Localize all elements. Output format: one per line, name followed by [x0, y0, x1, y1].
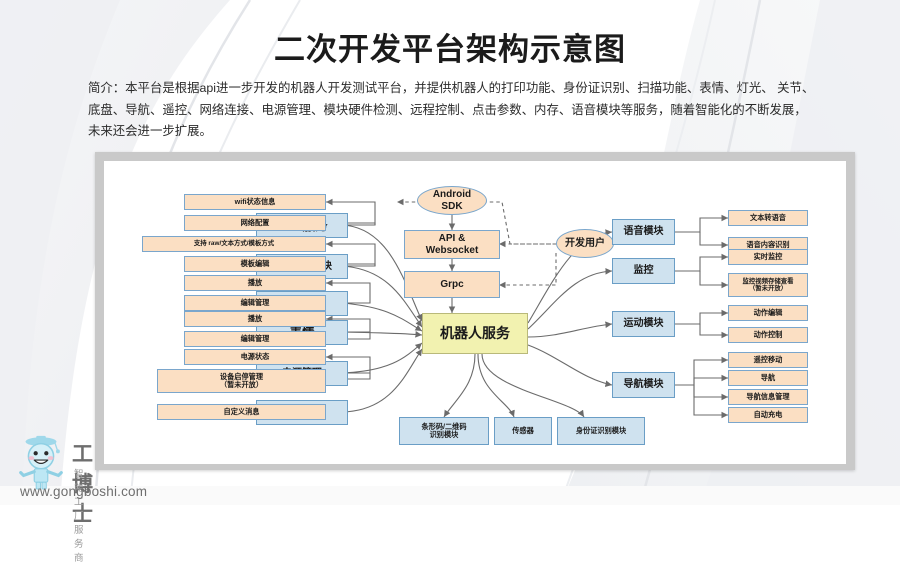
- node-grpc[interactable]: Grpc: [404, 271, 500, 298]
- node-device-startstop-manage[interactable]: 设备启停管理 （暂未开放）: [157, 369, 326, 393]
- logo-tagline: 智能工厂服务商: [74, 466, 85, 564]
- node-label: 监控视频存储查看 （暂未开放）: [742, 278, 793, 292]
- node-text-to-speech[interactable]: 文本转语音: [728, 210, 808, 226]
- node-label: 实时监控: [754, 253, 783, 261]
- diagram-canvas: 机器人服务 Android SDK API & Websocket Grpc 开…: [104, 161, 846, 464]
- node-power-status[interactable]: 电源状态: [184, 349, 326, 365]
- node-label: 开发用户: [565, 238, 605, 249]
- node-label: 设备启停管理 （暂未开放）: [220, 373, 263, 389]
- intro-paragraph: 简介：本平台是根据api进一步开发的机器人开发测试平台，并提供机器人的打印功能、…: [88, 78, 818, 143]
- node-wifi-status-info[interactable]: wifi状态信息: [184, 194, 326, 210]
- node-action-control[interactable]: 动作控制: [728, 327, 808, 343]
- robot-mascot-icon: [12, 432, 70, 490]
- node-label: 电源状态: [241, 353, 270, 361]
- node-label: 支持 raw/文本方式/模板方式: [194, 240, 274, 247]
- node-label: 网络配置: [241, 219, 270, 227]
- node-navigation-info-manage[interactable]: 导航信息管理: [728, 389, 808, 405]
- node-network-config[interactable]: 网络配置: [184, 215, 326, 231]
- node-core-robot-service[interactable]: 机器人服务: [422, 313, 528, 354]
- node-id-card-module[interactable]: 身份证识别模块: [557, 417, 645, 445]
- node-label: 语音模块: [624, 226, 664, 237]
- node-voice-module[interactable]: 语音模块: [612, 219, 675, 245]
- node-label: 监控: [634, 265, 654, 276]
- diagram-frame: 机器人服务 Android SDK API & Websocket Grpc 开…: [95, 152, 855, 470]
- node-auto-charge[interactable]: 自动充电: [728, 407, 808, 423]
- node-label: 导航信息管理: [746, 393, 789, 401]
- node-label: API & Websocket: [426, 233, 479, 255]
- node-realtime-monitoring[interactable]: 实时监控: [728, 249, 808, 265]
- node-api-websocket[interactable]: API & Websocket: [404, 230, 500, 259]
- node-emotion-play[interactable]: 播放: [184, 311, 326, 327]
- node-label: Grpc: [440, 279, 463, 290]
- node-label: 编辑管理: [241, 335, 270, 343]
- node-barcode-qrcode-module[interactable]: 条形码/二维码 识别模块: [399, 417, 489, 445]
- node-label: 传感器: [512, 427, 534, 435]
- node-label: 自动充电: [754, 411, 783, 419]
- node-light-edit-manage[interactable]: 编辑管理: [184, 295, 326, 311]
- node-label: 编辑管理: [241, 299, 270, 307]
- node-label: 遥控移动: [754, 356, 783, 364]
- node-label: 条形码/二维码 识别模块: [421, 423, 466, 439]
- node-remote-move[interactable]: 遥控移动: [728, 352, 808, 368]
- node-label: 文本转语音: [750, 214, 786, 222]
- node-label: 动作编辑: [754, 309, 783, 317]
- node-android-sdk[interactable]: Android SDK: [417, 186, 487, 215]
- node-custom-message[interactable]: 自定义消息: [157, 404, 326, 420]
- node-label: 运动模块: [624, 318, 664, 329]
- node-navigation-module[interactable]: 导航模块: [612, 372, 675, 398]
- node-monitor-video-storage[interactable]: 监控视频存储查看 （暂未开放）: [728, 273, 808, 297]
- node-sensor[interactable]: 传感器: [494, 417, 552, 445]
- node-light-play[interactable]: 播放: [184, 275, 326, 291]
- node-label: 机器人服务: [440, 326, 510, 342]
- node-motion-module[interactable]: 运动模块: [612, 311, 675, 337]
- node-template-edit[interactable]: 模板编辑: [184, 256, 326, 272]
- node-label: 播放: [248, 279, 262, 287]
- node-action-edit[interactable]: 动作编辑: [728, 305, 808, 321]
- node-label: 动作控制: [754, 331, 783, 339]
- node-label: 播放: [248, 315, 262, 323]
- node-emotion-edit-manage[interactable]: 编辑管理: [184, 331, 326, 347]
- logo-url: www.gongboshi.com: [20, 484, 147, 499]
- node-dev-user[interactable]: 开发用户: [556, 229, 614, 258]
- node-label: 模板编辑: [241, 260, 270, 268]
- node-label: Android SDK: [433, 189, 471, 211]
- node-label: 导航模块: [624, 379, 664, 390]
- node-monitoring[interactable]: 监控: [612, 258, 675, 284]
- node-label: 语音内容识别: [746, 241, 789, 249]
- node-navigation[interactable]: 导航: [728, 370, 808, 386]
- node-label: 身份证识别模块: [576, 427, 626, 435]
- node-label: 自定义消息: [224, 408, 260, 416]
- node-label: wifi状态信息: [235, 198, 276, 206]
- node-label: 导航: [761, 374, 775, 382]
- page-title: 二次开发平台架构示意图: [0, 24, 900, 69]
- node-print-format-support[interactable]: 支持 raw/文本方式/模板方式: [142, 236, 326, 252]
